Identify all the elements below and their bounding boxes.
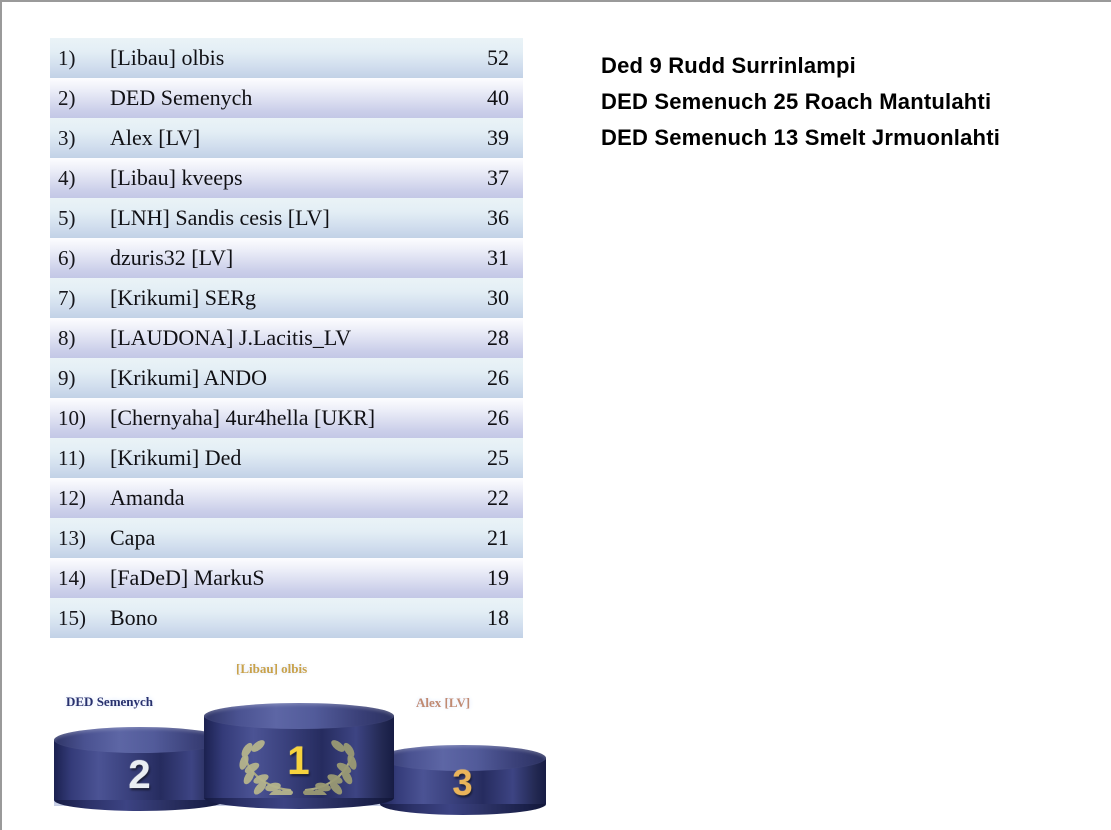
row-rank: 2) [50, 86, 110, 111]
row-score: 39 [441, 125, 523, 151]
podium-numeral-2: 2 [54, 755, 226, 795]
row-score: 26 [441, 365, 523, 391]
row-player-name: [LAUDONA] J.Lacitis_LV [110, 325, 441, 351]
table-row: 6)dzuris32 [LV]31 [50, 238, 523, 278]
table-row: 4)[Libau] kveeps37 [50, 158, 523, 198]
row-score: 26 [441, 405, 523, 431]
row-rank: 9) [50, 366, 110, 391]
podium-numeral-1: 1 [204, 741, 394, 781]
table-row: 14)[FaDeD] MarkuS19 [50, 558, 523, 598]
podium-label-second: DED Semenych [66, 694, 153, 710]
podium-graphic: DED Semenych [Libau] olbis Alex [LV] 2 3 [50, 655, 550, 820]
row-player-name: DED Semenych [110, 85, 441, 111]
row-score: 19 [441, 565, 523, 591]
note-line: DED Semenuch 25 Roach Mantulahti [601, 84, 1081, 120]
row-score: 25 [441, 445, 523, 471]
table-row: 13)Capa21 [50, 518, 523, 558]
row-rank: 15) [50, 606, 110, 631]
row-player-name: dzuris32 [LV] [110, 245, 441, 271]
row-player-name: [Krikumi] SERg [110, 285, 441, 311]
podium-block-first: 1 [204, 703, 394, 803]
table-row: 12)Amanda22 [50, 478, 523, 518]
row-player-name: [LNH] Sandis cesis [LV] [110, 205, 441, 231]
row-player-name: [FaDeD] MarkuS [110, 565, 441, 591]
table-row: 1)[Libau] olbis52 [50, 38, 523, 78]
row-rank: 8) [50, 326, 110, 351]
table-row: 2)DED Semenych40 [50, 78, 523, 118]
row-rank: 11) [50, 446, 110, 471]
podium-block-second-top [54, 727, 226, 753]
row-player-name: Alex [LV] [110, 125, 441, 151]
row-score: 28 [441, 325, 523, 351]
table-row: 10)[Chernyaha] 4ur4hella [UKR]26 [50, 398, 523, 438]
podium-block-third: 3 [380, 745, 546, 809]
notes-block: Ded 9 Rudd SurrinlampiDED Semenuch 25 Ro… [601, 48, 1081, 156]
row-rank: 13) [50, 526, 110, 551]
row-rank: 6) [50, 246, 110, 271]
row-score: 30 [441, 285, 523, 311]
table-row: 7)[Krikumi] SERg30 [50, 278, 523, 318]
row-rank: 5) [50, 206, 110, 231]
podium-label-first: [Libau] olbis [236, 661, 307, 677]
row-rank: 1) [50, 46, 110, 71]
table-row: 15)Bono18 [50, 598, 523, 638]
row-rank: 12) [50, 486, 110, 511]
row-player-name: [Libau] kveeps [110, 165, 441, 191]
podium-numeral-3: 3 [380, 765, 546, 801]
row-player-name: Amanda [110, 485, 441, 511]
row-rank: 10) [50, 406, 110, 431]
row-score: 22 [441, 485, 523, 511]
scoreboard-table: 1)[Libau] olbis522)DED Semenych403)Alex … [50, 38, 523, 638]
note-line: Ded 9 Rudd Surrinlampi [601, 48, 1081, 84]
table-row: 8)[LAUDONA] J.Lacitis_LV28 [50, 318, 523, 358]
table-row: 9)[Krikumi] ANDO26 [50, 358, 523, 398]
row-player-name: Capa [110, 525, 441, 551]
row-player-name: [Chernyaha] 4ur4hella [UKR] [110, 405, 441, 431]
row-score: 18 [441, 605, 523, 631]
row-rank: 7) [50, 286, 110, 311]
row-score: 52 [441, 45, 523, 71]
table-row: 11)[Krikumi] Ded25 [50, 438, 523, 478]
row-rank: 3) [50, 126, 110, 151]
row-player-name: Bono [110, 605, 441, 631]
podium-block-second: 2 [54, 727, 226, 807]
row-score: 36 [441, 205, 523, 231]
row-score: 31 [441, 245, 523, 271]
row-player-name: [Libau] olbis [110, 45, 441, 71]
row-score: 21 [441, 525, 523, 551]
podium-block-first-top [204, 703, 394, 729]
note-line: DED Semenuch 13 Smelt Jrmuonlahti [601, 120, 1081, 156]
row-score: 40 [441, 85, 523, 111]
row-score: 37 [441, 165, 523, 191]
row-player-name: [Krikumi] ANDO [110, 365, 441, 391]
row-player-name: [Krikumi] Ded [110, 445, 441, 471]
row-rank: 14) [50, 566, 110, 591]
row-rank: 4) [50, 166, 110, 191]
table-row: 3)Alex [LV]39 [50, 118, 523, 158]
podium-label-third: Alex [LV] [416, 695, 470, 711]
table-row: 5)[LNH] Sandis cesis [LV]36 [50, 198, 523, 238]
